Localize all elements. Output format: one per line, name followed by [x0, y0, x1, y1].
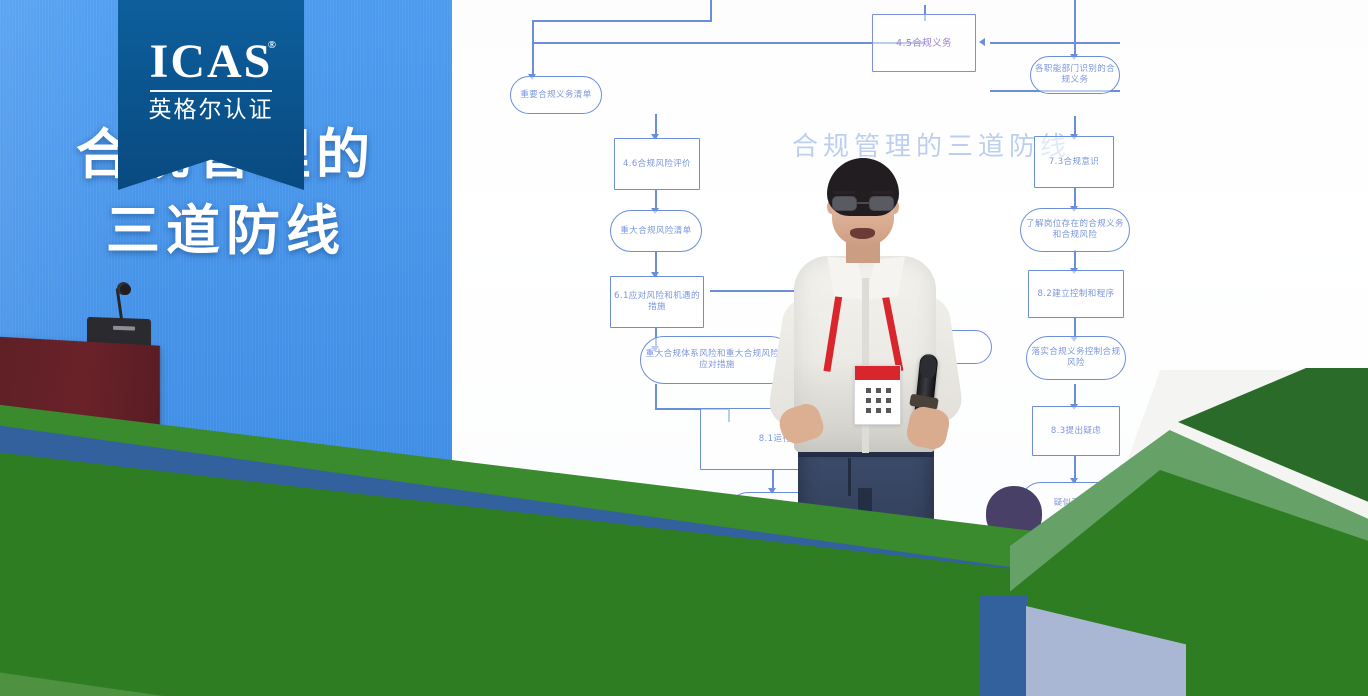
microphone-grille	[919, 355, 937, 379]
glasses-lens	[869, 196, 894, 211]
graphic-block-blue	[980, 596, 1028, 696]
flow-connector	[990, 42, 1120, 44]
flow-node-department-obligations: 各职能部门识别的合规义务	[1030, 56, 1120, 94]
flow-connector	[532, 20, 534, 42]
glasses-lens	[832, 196, 857, 211]
conference-badge	[854, 365, 901, 425]
flow-connector	[532, 20, 712, 22]
flow-connector	[1074, 0, 1076, 56]
flow-connector	[532, 42, 870, 44]
registered-trademark-icon: ®	[268, 40, 278, 51]
flow-node-4-5: 4.5合规义务	[872, 14, 976, 72]
badge-header-bar	[855, 366, 900, 380]
led-wall-title-line2: 三道防线	[0, 200, 452, 262]
flow-node-6-1: 6.1应对风险和机遇的措施	[610, 276, 704, 328]
flow-node-7-3: 7.3合规意识	[1034, 136, 1114, 188]
glasses-bridge	[857, 202, 869, 204]
speaker-mouth	[850, 228, 875, 239]
flow-node-important-obligation-list: 重要合规义务清单	[510, 76, 602, 114]
glasses-icon	[830, 196, 896, 211]
icas-logo: ICAS ®	[118, 38, 304, 86]
flow-node-major-risk-list: 重大合规风险清单	[610, 210, 702, 252]
speaker-eyebrow	[871, 191, 893, 194]
flow-connector	[710, 0, 712, 20]
flow-node-8-3: 8.3提出疑虑	[1032, 406, 1120, 456]
speaker-trouser-fly	[848, 458, 851, 496]
flow-connector	[532, 42, 534, 76]
flow-node-8-2: 8.2建立控制和程序	[1028, 270, 1124, 318]
lectern-indicator	[113, 326, 135, 331]
icas-logo-wordmark: ICAS	[150, 35, 273, 88]
flow-node-post-awareness: 了解岗位存在的合规义务和合规风险	[1020, 208, 1130, 252]
icas-logo-chinese: 英格尔认证	[118, 97, 304, 123]
flow-node-4-6: 4.6合规风险评价	[614, 138, 700, 190]
speaker-eyebrow	[833, 191, 855, 194]
presentation-photo: 合规管理的三道防线	[0, 0, 1368, 696]
qr-code-icon	[866, 388, 891, 413]
flow-node-fulfil-obligations: 落实合规义务控制合规风险	[1026, 336, 1126, 380]
gooseneck-microphone-icon	[120, 284, 131, 295]
flow-connector	[655, 384, 657, 408]
logo-underline	[150, 90, 272, 92]
flow-arrow	[979, 38, 985, 46]
